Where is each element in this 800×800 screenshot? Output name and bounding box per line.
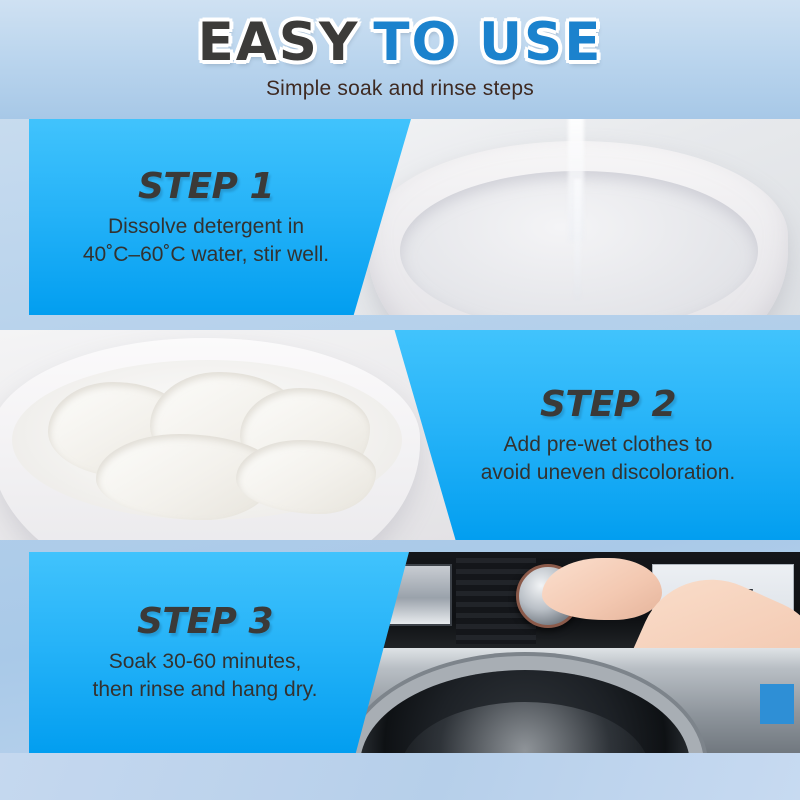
water-stream-inner-shape xyxy=(574,179,581,299)
footer-band xyxy=(0,753,800,800)
step-3-label: STEP 3 xyxy=(137,601,273,642)
hand-shape xyxy=(542,558,662,620)
step-3-text: Soak 30-60 minutes, then rinse and hang … xyxy=(93,648,318,704)
washer-badge-shape xyxy=(760,684,794,724)
step-panel-1: STEP 1 Dissolve detergent in 40˚C–60˚C w… xyxy=(29,119,411,315)
step-row-2: STEP 2 Add pre-wet clothes to avoid unev… xyxy=(0,330,800,540)
page-title: EASYTO USE xyxy=(0,0,800,70)
step-1-text: Dissolve detergent in 40˚C–60˚C water, s… xyxy=(83,213,329,269)
step-row-3: 800 0:05 STEP 3 Soak 30-60 minutes, then… xyxy=(0,552,800,753)
step-row-1: STEP 1 Dissolve detergent in 40˚C–60˚C w… xyxy=(0,119,800,315)
title-part-to-use: TO USE xyxy=(373,16,602,70)
step-panel-3: STEP 3 Soak 30-60 minutes, then rinse an… xyxy=(29,552,409,753)
title-part-easy: EASY xyxy=(198,16,360,70)
step-2-text: Add pre-wet clothes to avoid uneven disc… xyxy=(481,431,736,487)
step-1-label: STEP 1 xyxy=(138,166,274,207)
page-subtitle: Simple soak and rinse steps xyxy=(0,70,800,101)
infographic-poster: EASYTO USE Simple soak and rinse steps S… xyxy=(0,0,800,800)
photo-white-clothes-soaking xyxy=(0,330,470,540)
step-2-label: STEP 2 xyxy=(540,384,676,425)
header-banner: EASYTO USE Simple soak and rinse steps xyxy=(0,0,800,119)
